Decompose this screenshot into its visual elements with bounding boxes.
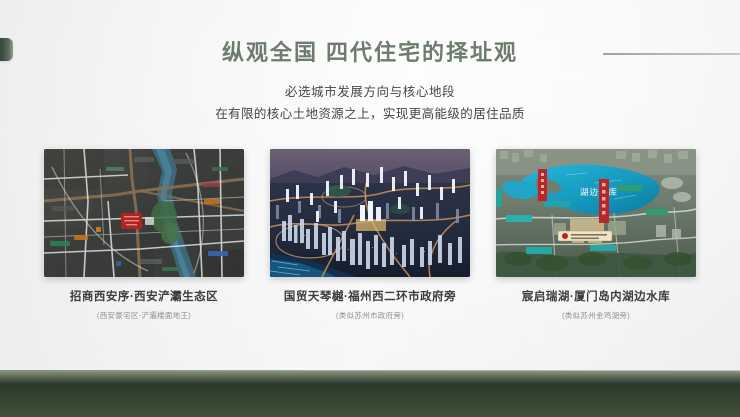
city-night-aerial-illustration (270, 149, 470, 277)
page-title: 纵观全国 四代住宅的择址观 (0, 40, 740, 66)
card-caption: 国贸天琴樾·福州西二环市政府旁 (270, 290, 470, 305)
page-subtitle: 必选城市发展方向与核心地段 在有限的核心土地资源之上，实现更高能级的居住品质 (0, 82, 740, 126)
slide-canvas: 纵观全国 四代住宅的择址观 必选城市发展方向与核心地段 在有限的核心土地资源之上… (0, 0, 740, 417)
card-caption: 招商西安序·西安浐灞生态区 (44, 290, 244, 305)
lake-aerial-illustration: 湖边水库 (496, 149, 696, 277)
card-sub-caption: (西安豪宅区-浐灞楼面地王) (44, 311, 244, 321)
thumbnail-city-night-aerial[interactable] (270, 149, 470, 277)
card-item[interactable]: 招商西安序·西安浐灞生态区 (西安豪宅区-浐灞楼面地王) (44, 149, 244, 321)
card-caption: 宸启瑞湖·厦门岛内湖边水库 (496, 290, 696, 305)
card-item[interactable]: 国贸天琴樾·福州西二环市政府旁 (类似苏州市政府旁) (270, 149, 470, 321)
card-item[interactable]: 湖边水库 (496, 149, 696, 321)
footer-top-highlight (0, 370, 740, 371)
card-sub-caption: (类似苏州市政府旁) (270, 311, 470, 321)
subtitle-line-2: 在有限的核心土地资源之上，实现更高能级的居住品质 (0, 104, 740, 126)
card-gallery: 招商西安序·西安浐灞生态区 (西安豪宅区-浐灞楼面地王) (0, 149, 740, 321)
footer-band (0, 370, 740, 417)
satellite-map-illustration (44, 149, 244, 277)
card-sub-caption: (类似苏州金鸡湖旁) (496, 311, 696, 321)
subtitle-line-1: 必选城市发展方向与核心地段 (0, 82, 740, 104)
thumbnail-lake-aerial[interactable]: 湖边水库 (496, 149, 696, 277)
thumbnail-satellite-map[interactable] (44, 149, 244, 277)
